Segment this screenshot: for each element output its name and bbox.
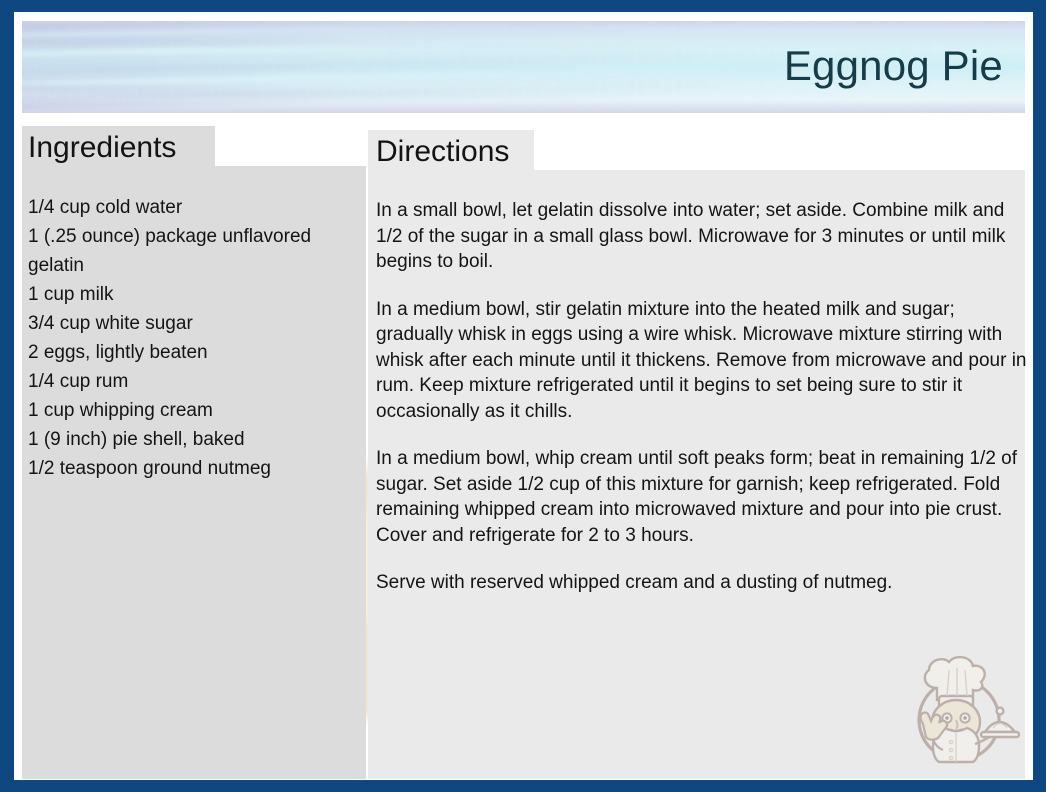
ingredient-item: 1 cup whipping cream [28, 396, 358, 425]
recipe-page: Eggnog Pie [14, 12, 1033, 780]
recipe-title: Eggnog Pie [784, 42, 1003, 90]
ingredient-item: 1/4 cup cold water [28, 193, 358, 222]
ingredient-item: 1 (.25 ounce) package unflavored gelatin [28, 222, 358, 280]
directions-heading: Directions [376, 135, 509, 169]
ingredient-item: 1/4 cup rum [28, 367, 358, 396]
header-banner: Eggnog Pie [22, 21, 1025, 113]
ingredient-item: 1 cup milk [28, 280, 358, 309]
recipe-card: Eggnog Pie [0, 0, 1046, 792]
directions-body: In a small bowl, let gelatin dissolve in… [376, 198, 1031, 596]
ingredient-item: 1 (9 inch) pie shell, baked [28, 425, 358, 454]
direction-paragraph: In a medium bowl, whip cream until soft … [376, 446, 1031, 548]
ingredient-item: 1/2 teaspoon ground nutmeg [28, 454, 358, 483]
ingredient-item: 3/4 cup white sugar [28, 309, 358, 338]
ingredients-list: 1/4 cup cold water 1 (.25 ounce) package… [28, 193, 358, 483]
ingredient-item: 2 eggs, lightly beaten [28, 338, 358, 367]
direction-paragraph: In a medium bowl, stir gelatin mixture i… [376, 297, 1031, 425]
ingredients-heading: Ingredients [28, 131, 176, 165]
direction-paragraph: Serve with reserved whipped cream and a … [376, 570, 1031, 596]
direction-paragraph: In a small bowl, let gelatin dissolve in… [376, 198, 1031, 275]
